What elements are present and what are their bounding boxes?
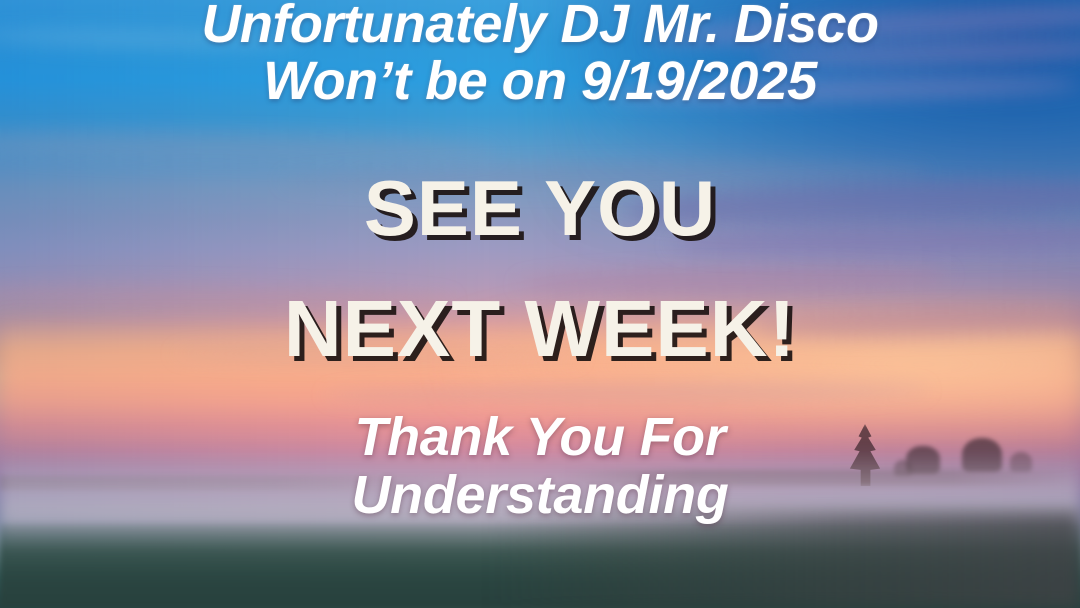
headline-announcement: Unfortunately DJ Mr. Disco Won’t be on 9… (0, 0, 1080, 110)
closing-message: Thank You For Understanding (0, 408, 1080, 524)
main-message-line-2: NEXT WEEK! (0, 286, 1080, 372)
headline-line-1: Unfortunately DJ Mr. Disco (201, 0, 878, 54)
main-message-line-1: SEE YOU (0, 166, 1080, 250)
headline-line-2: Won’t be on 9/19/2025 (0, 53, 1080, 110)
closing-line-2: Understanding (0, 466, 1080, 524)
announcement-poster: Unfortunately DJ Mr. Disco Won’t be on 9… (0, 0, 1080, 608)
closing-line-1: Thank You For (354, 407, 725, 467)
text-overlay: Unfortunately DJ Mr. Disco Won’t be on 9… (0, 0, 1080, 608)
